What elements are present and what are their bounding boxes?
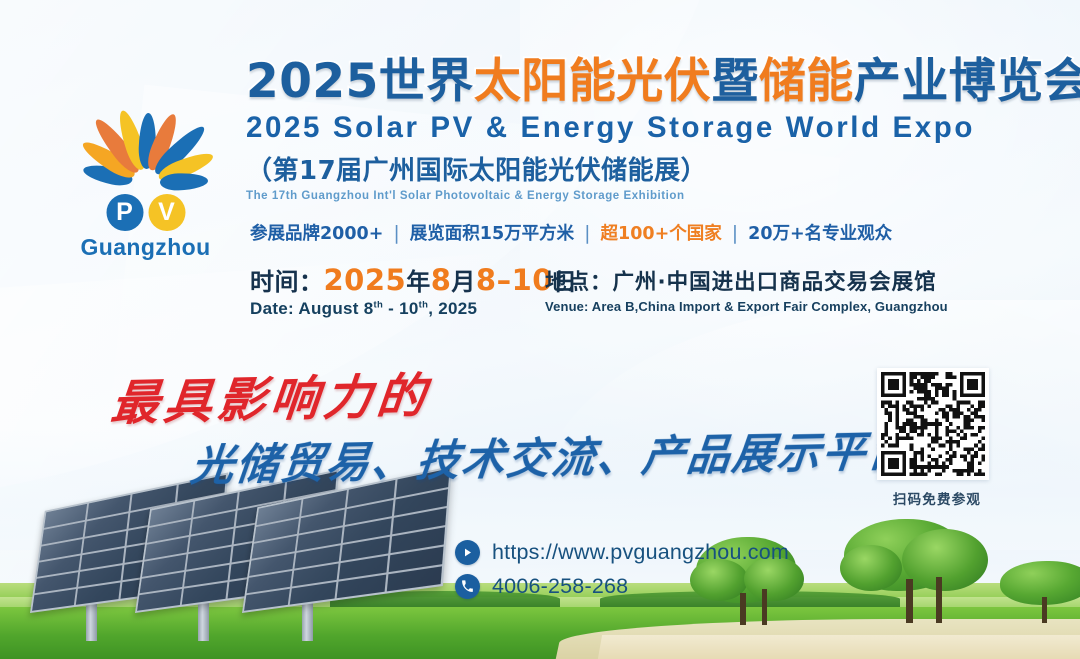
title-part-0: 2025世界 [246,54,474,109]
title-part-2: 暨 [711,54,759,109]
date-en-day1: 8 [364,299,374,318]
date-english: Date: August 8th - 10th, 2025 [250,299,577,319]
stat-item: 参展品牌2000+ [250,220,383,245]
stat-item: 20万+名专业观众 [748,220,892,245]
pv-guangzhou-logo: P V Guangzhou [58,100,233,265]
venue-block: 地点：广州·中国进出口商品交易会展馆 Venue: Area B,China I… [545,265,948,314]
date-day-start: 8 [476,263,497,297]
tree [1000,561,1080,623]
date-en-sup2: th [419,299,429,310]
website-url[interactable]: https://www.pvguangzhou.com [492,540,789,565]
headline-block: 2025世界太阳能光伏暨储能产业博览会 2025 Solar PV & Ener… [246,58,1046,202]
solar-panel-illustration [10,491,480,641]
stat-separator: | [732,222,738,244]
stats-strip: 参展品牌2000+|展览面积15万平方米|超100+个国家|20万+名专业观众 [250,220,892,245]
title-part-4: 产业博览会 [854,54,1080,109]
date-en-day2: 10 [399,299,419,318]
stat-item: 超100+个国家 [601,220,722,245]
phone-number[interactable]: 4006-258-268 [492,574,628,599]
logo-letter-v: V [148,194,185,231]
venue-english: Venue: Area B,China Import & Export Fair… [545,299,948,314]
date-en-mid: - [383,299,399,318]
date-dash: – [497,263,512,297]
date-month-unit: 月 [451,268,476,296]
stat-separator: | [584,222,590,244]
title-english: 2025 Solar PV & Energy Storage World Exp… [246,111,1046,145]
date-en-suffix: , 2025 [428,299,477,318]
subtitle-chinese: （第17届广州国际太阳能光伏储能展） [246,150,1046,187]
slogan-line-1: 最具影响力的 [108,356,434,434]
title-part-3: 储能 [759,54,854,109]
venue-label-cn: 地点： [545,270,613,295]
date-label-cn: 时间： [250,268,324,296]
expo-poster: P V Guangzhou 2025世界太阳能光伏暨储能产业博览会 2025 S… [0,0,1080,659]
tree [840,519,990,623]
date-year-unit: 年 [406,268,431,296]
date-block: 时间：2025年8月8–10日 Date: August 8th - 10th,… [250,262,577,319]
pv-letters: P V [106,194,185,231]
phone-circle-icon [455,574,480,599]
logo-petal [159,172,208,191]
qr-caption: 扫码免费参观 [877,488,997,508]
date-chinese: 时间：2025年8月8–10日 [250,262,577,297]
venue-chinese: 地点：广州·中国进出口商品交易会展馆 [545,265,948,296]
date-month: 8 [431,263,452,297]
venue-value-cn: 广州·中国进出口商品交易会展馆 [613,270,937,295]
stat-separator: | [393,222,399,244]
date-en-prefix: Date: August [250,299,364,318]
subtitle-english: The 17th Guangzhou Int'l Solar Photovolt… [246,190,1046,202]
play-circle-icon [455,540,480,565]
title-chinese: 2025世界太阳能光伏暨储能产业博览会 [246,58,1046,107]
contact-block: https://www.pvguangzhou.com 4006-258-268 [455,540,789,608]
title-part-1: 太阳能光伏 [474,54,712,109]
website-row[interactable]: https://www.pvguangzhou.com [455,540,789,565]
logo-city-label: Guangzhou [80,234,210,261]
logo-letter-p: P [106,194,143,231]
date-year: 2025 [324,263,407,297]
phone-row[interactable]: 4006-258-268 [455,574,789,599]
date-en-sup1: th [374,299,384,310]
stat-item: 展览面积15万平方米 [410,220,574,245]
dirt-path-highlight [598,635,1080,659]
qr-block: 扫码免费参观 [877,368,997,508]
qr-code[interactable] [877,368,989,480]
